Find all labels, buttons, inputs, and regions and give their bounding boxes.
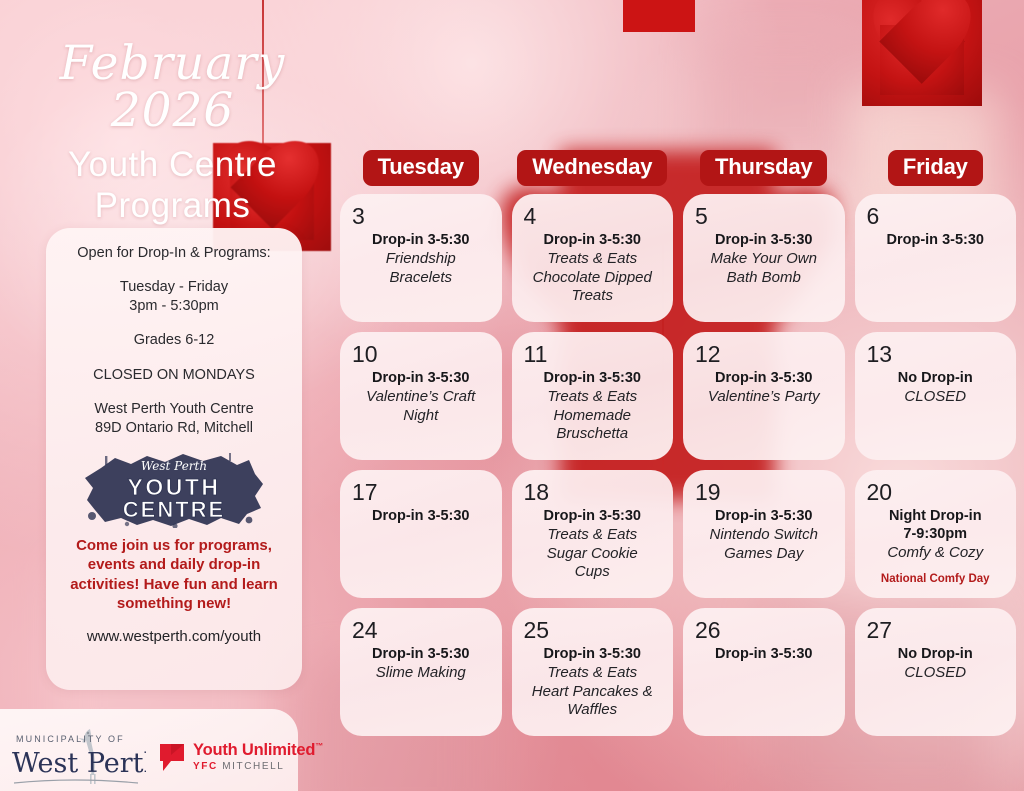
- calendar-day-cell[interactable]: 3Drop-in 3-5:30FriendshipBracelets: [340, 194, 502, 322]
- title-month-year: February 2026: [0, 40, 345, 134]
- calendar-activity-label: FriendshipBracelets: [352, 250, 490, 287]
- calendar-dropin-label: Drop-in 3-5:30: [352, 231, 490, 249]
- title-line-2: Youth Centre: [0, 144, 345, 185]
- calendar-day-body: Drop-in 3-5:30Make Your OwnBath Bomb: [695, 231, 833, 287]
- day-header-wednesday: Wednesday: [517, 150, 667, 186]
- calendar-day-cell[interactable]: 6Drop-in 3-5:30: [855, 194, 1017, 322]
- calendar-activity-label: Valentine’s Party: [695, 388, 833, 406]
- calendar-week-row: 10Drop-in 3-5:30Valentine’s CraftNight11…: [340, 332, 1016, 460]
- calendar-day-cell[interactable]: 24Drop-in 3-5:30Slime Making: [340, 608, 502, 736]
- youth-centre-logo: West Perth YOUTH CENTRE: [79, 450, 269, 528]
- calendar-day-cell[interactable]: 17Drop-in 3-5:30: [340, 470, 502, 598]
- calendar-day-body: Drop-in 3-5:30Treats & EatsSugar CookieC…: [524, 507, 662, 581]
- calendar-day-cell[interactable]: 25Drop-in 3-5:30Treats & EatsHeart Panca…: [512, 608, 674, 736]
- calendar-dropin-label: Drop-in 3-5:30: [695, 507, 833, 525]
- calendar-day-number: 18: [524, 480, 662, 504]
- calendar-activity-label: Comfy & Cozy: [867, 544, 1005, 562]
- info-heading: Open for Drop-In & Programs:: [60, 244, 288, 263]
- calendar-day-number: 27: [867, 618, 1005, 642]
- poster-root: February 2026 Youth Centre Programs Open…: [0, 0, 1024, 791]
- calendar-day-body: Drop-in 3-5:30Nintendo SwitchGames Day: [695, 507, 833, 563]
- calendar-day-header-row: Tuesday Wednesday Thursday Friday: [340, 150, 1016, 186]
- info-closed-mondays: CLOSED ON MONDAYS: [60, 366, 288, 385]
- calendar-day-number: 13: [867, 342, 1005, 366]
- info-open-days: Tuesday - Friday: [60, 278, 288, 297]
- calendar-day-number: 25: [524, 618, 662, 642]
- day-header-thursday: Thursday: [700, 150, 827, 186]
- calendar-dropin-label: Drop-in 3-5:30: [524, 369, 662, 387]
- calendar-day-number: 19: [695, 480, 833, 504]
- calendar-activity-label: Treats & EatsHeart Pancakes &Waffles: [524, 664, 662, 719]
- calendar-day-number: 17: [352, 480, 490, 504]
- calendar-day-number: 11: [524, 342, 662, 366]
- calendar-week-row: 3Drop-in 3-5:30FriendshipBracelets4Drop-…: [340, 194, 1016, 322]
- calendar-day-cell[interactable]: 26Drop-in 3-5:30: [683, 608, 845, 736]
- calendar-day-number: 10: [352, 342, 490, 366]
- calendar-day-number: 6: [867, 204, 1005, 228]
- partner-city-text: MITCHELL: [222, 761, 284, 772]
- website-url[interactable]: www.westperth.com/youth: [60, 628, 288, 645]
- calendar-day-body: Drop-in 3-5:30: [695, 645, 833, 663]
- hanging-heart-icon: [862, 0, 982, 106]
- municipality-name-text: West Perth: [12, 748, 146, 779]
- calendar-day-number: 24: [352, 618, 490, 642]
- calendar-week-row: 24Drop-in 3-5:30Slime Making25Drop-in 3-…: [340, 608, 1016, 736]
- calendar-grid: Tuesday Wednesday Thursday Friday 3Drop-…: [340, 150, 1016, 746]
- calendar-day-body: Drop-in 3-5:30Treats & EatsHeart Pancake…: [524, 645, 662, 719]
- speech-bubble-icon: [158, 742, 186, 772]
- calendar-day-cell[interactable]: 18Drop-in 3-5:30Treats & EatsSugar Cooki…: [512, 470, 674, 598]
- calendar-day-body: Drop-in 3-5:30Valentine’s CraftNight: [352, 369, 490, 425]
- day-header-tuesday: Tuesday: [363, 150, 479, 186]
- calendar-activity-label: Treats & EatsHomemadeBruschetta: [524, 388, 662, 443]
- calendar-day-cell[interactable]: 12Drop-in 3-5:30Valentine’s Party: [683, 332, 845, 460]
- calendar-activity-label: Nintendo SwitchGames Day: [695, 526, 833, 563]
- calendar-special-note: National Comfy Day: [867, 573, 1005, 586]
- calendar-activity-label: CLOSED: [867, 664, 1005, 682]
- youth-unlimited-logo: Youth Unlimited™ YFC MITCHELL: [158, 729, 306, 785]
- calendar-dropin-label: Drop-in 3-5:30: [695, 231, 833, 249]
- calendar-day-body: Drop-in 3-5:30Treats & EatsChocolate Dip…: [524, 231, 662, 305]
- calendar-dropin-label: Drop-in 3-5:30: [695, 369, 833, 387]
- hanging-heart-icon: [623, 0, 695, 32]
- partner-yfc-text: YFC: [193, 761, 218, 772]
- calendar-day-body: Drop-in 3-5:30: [867, 231, 1005, 249]
- footer-logo-bar: MUNICIPALITY OF West Perth Youth Unlimit…: [0, 709, 298, 791]
- calendar-day-body: Drop-in 3-5:30Treats & EatsHomemadeBrusc…: [524, 369, 662, 443]
- calendar-day-cell[interactable]: 27No Drop-inCLOSED: [855, 608, 1017, 736]
- spacer: [60, 385, 288, 400]
- calendar-day-number: 20: [867, 480, 1005, 504]
- calendar-day-number: 26: [695, 618, 833, 642]
- calendar-activity-label: Valentine’s CraftNight: [352, 388, 490, 425]
- calendar-dropin-label: Drop-in 3-5:30: [524, 231, 662, 249]
- calendar-dropin-label: Drop-in 3-5:30: [867, 231, 1005, 249]
- calendar-dropin-label: Night Drop-in7-9:30pm: [867, 507, 1005, 543]
- spacer: [60, 263, 288, 278]
- calendar-dropin-label: Drop-in 3-5:30: [352, 507, 490, 525]
- calendar-day-cell[interactable]: 10Drop-in 3-5:30Valentine’s CraftNight: [340, 332, 502, 460]
- calendar-activity-label: Treats & EatsChocolate DippedTreats: [524, 250, 662, 305]
- calendar-activity-label: Treats & EatsSugar CookieCups: [524, 526, 662, 581]
- calendar-day-number: 12: [695, 342, 833, 366]
- calendar-dropin-label: No Drop-in: [867, 369, 1005, 387]
- west-perth-municipality-logo: MUNICIPALITY OF West Perth: [6, 726, 146, 788]
- calendar-day-cell[interactable]: 5Drop-in 3-5:30Make Your OwnBath Bomb: [683, 194, 845, 322]
- spacer: [60, 351, 288, 366]
- calendar-day-cell[interactable]: 19Drop-in 3-5:30Nintendo SwitchGames Day: [683, 470, 845, 598]
- calendar-week-row: 17Drop-in 3-5:3018Drop-in 3-5:30Treats &…: [340, 470, 1016, 598]
- calendar-day-cell[interactable]: 20Night Drop-in7-9:30pmComfy & CozyNatio…: [855, 470, 1017, 598]
- calendar-day-body: Drop-in 3-5:30Valentine’s Party: [695, 369, 833, 406]
- calendar-day-cell[interactable]: 13No Drop-inCLOSED: [855, 332, 1017, 460]
- calendar-dropin-label: Drop-in 3-5:30: [352, 369, 490, 387]
- calendar-day-number: 3: [352, 204, 490, 228]
- info-open-hours: 3pm - 5:30pm: [60, 297, 288, 316]
- poster-title: February 2026 Youth Centre Programs: [0, 40, 345, 227]
- calendar-day-body: Drop-in 3-5:30Slime Making: [352, 645, 490, 682]
- calendar-dropin-label: No Drop-in: [867, 645, 1005, 663]
- calendar-dropin-label: Drop-in 3-5:30: [524, 645, 662, 663]
- calendar-day-body: Drop-in 3-5:30FriendshipBracelets: [352, 231, 490, 287]
- municipality-kicker-text: MUNICIPALITY OF: [16, 734, 125, 744]
- calendar-activity-label: CLOSED: [867, 388, 1005, 406]
- spacer: [60, 316, 288, 331]
- info-venue-name: West Perth Youth Centre: [60, 400, 288, 419]
- info-panel: Open for Drop-In & Programs: Tuesday - F…: [46, 228, 302, 690]
- calendar-day-body: Drop-in 3-5:30: [352, 507, 490, 525]
- calendar-day-cell[interactable]: 4Drop-in 3-5:30Treats & EatsChocolate Di…: [512, 194, 674, 322]
- info-grades: Grades 6-12: [60, 331, 288, 350]
- calendar-dropin-label: Drop-in 3-5:30: [524, 507, 662, 525]
- day-header-friday: Friday: [888, 150, 983, 186]
- calendar-day-body: Night Drop-in7-9:30pmComfy & CozyNationa…: [867, 507, 1005, 585]
- trademark-symbol: ™: [315, 742, 323, 751]
- calendar-dropin-label: Drop-in 3-5:30: [352, 645, 490, 663]
- calendar-activity-label: Slime Making: [352, 664, 490, 682]
- promo-text: Come join us for programs, events and da…: [60, 536, 288, 614]
- calendar-dropin-label: Drop-in 3-5:30: [695, 645, 833, 663]
- calendar-activity-label: Make Your OwnBath Bomb: [695, 250, 833, 287]
- calendar-day-number: 5: [695, 204, 833, 228]
- calendar-day-body: No Drop-inCLOSED: [867, 369, 1005, 406]
- info-venue-address: 89D Ontario Rd, Mitchell: [60, 419, 288, 438]
- title-line-3: Programs: [0, 185, 345, 226]
- partner-name-text: Youth Unlimited: [193, 741, 315, 759]
- calendar-day-cell[interactable]: 11Drop-in 3-5:30Treats & EatsHomemadeBru…: [512, 332, 674, 460]
- calendar-weeks: 3Drop-in 3-5:30FriendshipBracelets4Drop-…: [340, 194, 1016, 736]
- calendar-day-number: 4: [524, 204, 662, 228]
- calendar-day-body: No Drop-inCLOSED: [867, 645, 1005, 682]
- logo-west-perth-text: West Perth: [141, 459, 207, 473]
- logo-centre-text: CENTRE: [123, 497, 225, 522]
